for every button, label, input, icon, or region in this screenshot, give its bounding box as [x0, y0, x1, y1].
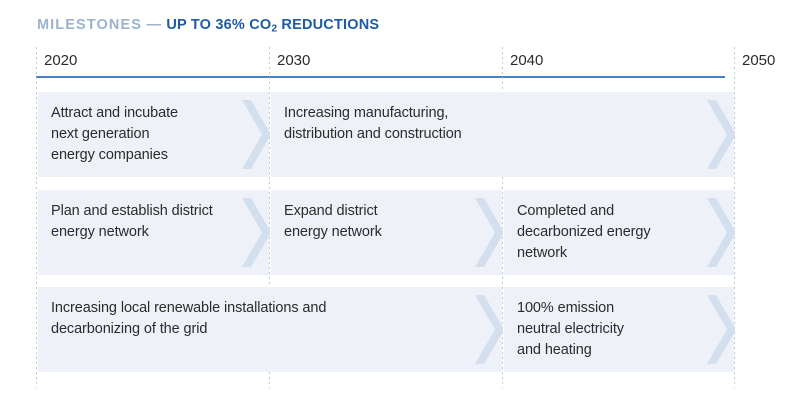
timeline-cell-r2c2: Expand district energy network	[271, 190, 502, 275]
axis-tick-2050: 2050	[742, 52, 775, 69]
timeline-cell-r3c1-text: Increasing local renewable installations…	[51, 298, 326, 340]
axis-tick-2030: 2030	[277, 52, 310, 69]
axis-tick-2020: 2020	[44, 52, 77, 69]
title-dash: —	[142, 17, 166, 33]
timeline-cell-r1c2-text: Increasing manufacturing, distribution a…	[284, 103, 462, 145]
timeline-cell-r1c1: Attract and incubate next generation ene…	[38, 92, 269, 177]
timeline-cell-r1c1-text: Attract and incubate next generation ene…	[51, 103, 178, 166]
gridline-2020	[36, 47, 37, 388]
timeline-cell-r2c1-text: Plan and establish district energy netwo…	[51, 201, 213, 243]
milestones-timeline-chart: MILESTONES — UP TO 36% CO2 REDUCTIONS 20…	[0, 0, 800, 403]
title-milestones: MILESTONES	[37, 17, 142, 33]
timeline-cell-r2c3: Completed and decarbonized energy networ…	[504, 190, 734, 275]
axis-baseline	[36, 76, 725, 78]
page-title: MILESTONES — UP TO 36% CO2 REDUCTIONS	[37, 17, 379, 34]
timeline-cell-r2c1: Plan and establish district energy netwo…	[38, 190, 269, 275]
timeline-cell-r1c2: Increasing manufacturing, distribution a…	[271, 92, 734, 177]
axis-tick-2040: 2040	[510, 52, 543, 69]
timeline-cell-r3c1: Increasing local renewable installations…	[38, 287, 502, 372]
timeline-cell-r2c3-text: Completed and decarbonized energy networ…	[517, 201, 651, 264]
title-reductions: UP TO 36% CO2 REDUCTIONS	[166, 17, 379, 33]
timeline-cell-r3c2: 100% emission neutral electricity and he…	[504, 287, 734, 372]
gridline-2050	[734, 47, 735, 388]
timeline-cell-r2c2-text: Expand district energy network	[284, 201, 382, 243]
timeline-cell-r3c2-text: 100% emission neutral electricity and he…	[517, 298, 624, 361]
title-strong-after: REDUCTIONS	[277, 17, 379, 33]
title-strong-before: UP TO 36% CO	[166, 17, 271, 33]
